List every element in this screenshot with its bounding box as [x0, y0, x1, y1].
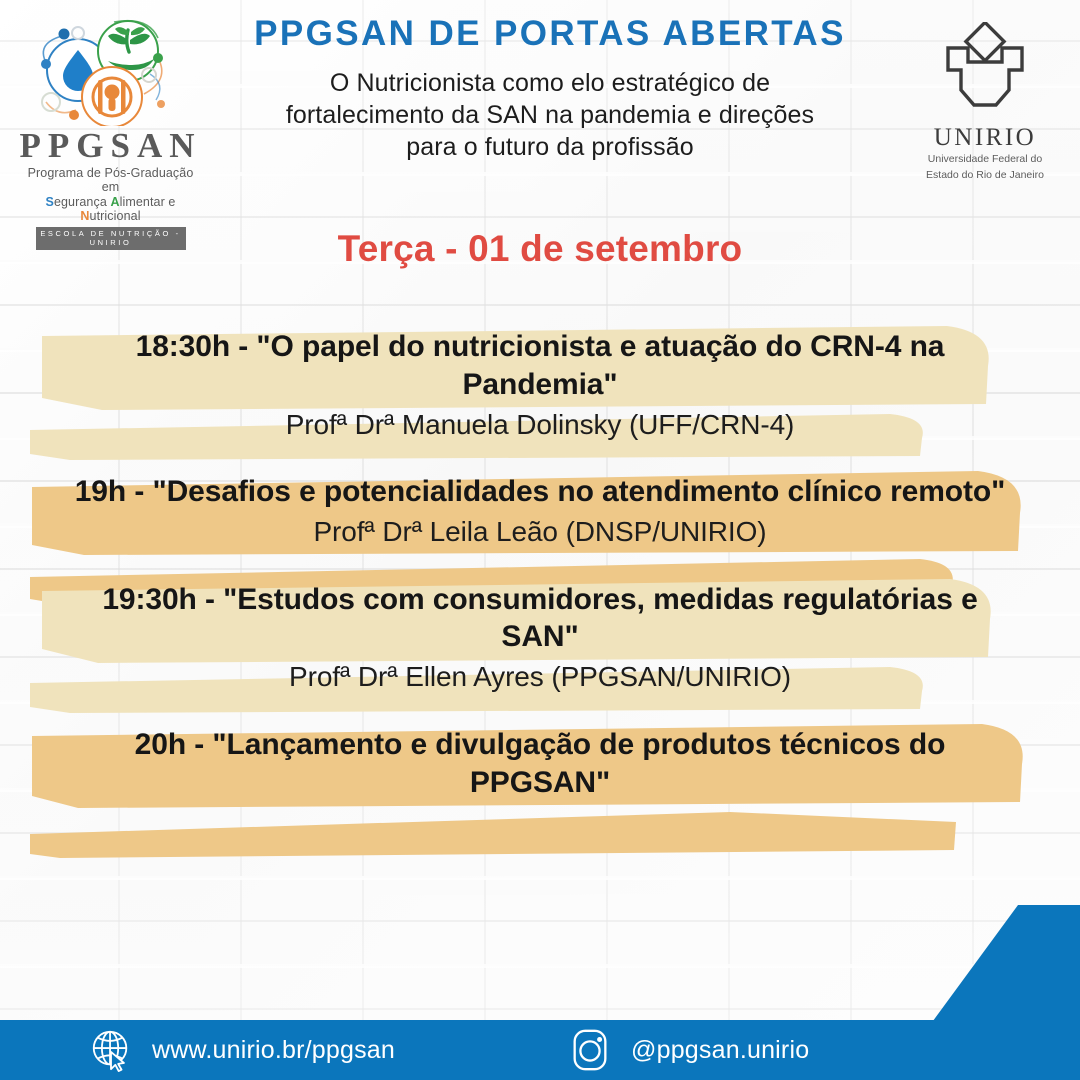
main-title: PPGSAN DE PORTAS ABERTAS [200, 16, 900, 53]
event-date: Terça - 01 de setembro [0, 228, 1080, 270]
instagram-icon [567, 1027, 613, 1073]
session-text: 20h - "Lançamento e divulgação de produt… [0, 716, 1080, 802]
subtitle-line-3: para o futuro da profissão [406, 133, 694, 161]
subtitle: O Nutricionista como elo estratégico de … [200, 67, 900, 163]
ppgsan-wordmark: PPGSAN [18, 128, 203, 163]
ppgsan-logo-marks [18, 14, 203, 126]
session-text: 19h - "Desafios e potencialidades no ate… [0, 463, 1080, 548]
ppgsan-logo-graphic [18, 14, 203, 126]
session-text: 18:30h - "O papel do nutricionista e atu… [0, 318, 1080, 441]
globe-cursor-icon [88, 1027, 134, 1073]
blue-corner-wedge [930, 905, 1080, 1025]
session-list: 18:30h - "O papel do nutricionista e atu… [0, 318, 1080, 823]
title-block: PPGSAN DE PORTAS ABERTAS O Nutricionista… [200, 16, 900, 163]
unirio-logo: UNIRIO Universidade Federal do Estado do… [910, 22, 1060, 182]
subtitle-line-2: fortalecimento da SAN na pandemia e dire… [286, 101, 814, 129]
instagram-label: @ppgsan.unirio [631, 1036, 809, 1065]
poster-canvas: PPGSAN Programa de Pós-Graduação em Segu… [0, 0, 1080, 1080]
website-link[interactable]: www.unirio.br/ppgsan [88, 1027, 395, 1073]
highlight-band-speaker [30, 812, 960, 858]
session-speaker: Profª Drª Leila Leão (DNSP/UNIRIO) [70, 515, 1010, 549]
poster-header: PPGSAN Programa de Pós-Graduação em Segu… [0, 0, 1080, 200]
session-item: 20h - "Lançamento e divulgação de produt… [0, 716, 1080, 802]
ppgsan-logo-line2: Segurança Alimentar e Nutricional [18, 195, 203, 223]
unirio-sub-line1: Universidade Federal do [910, 153, 1060, 166]
session-item: 19:30h - "Estudos com consumidores, medi… [0, 571, 1080, 694]
session-title: 19:30h - "Estudos com consumidores, medi… [70, 571, 1010, 657]
unirio-sub-line2: Estado do Rio de Janeiro [910, 169, 1060, 182]
session-speaker: Profª Drª Manuela Dolinsky (UFF/CRN-4) [70, 408, 1010, 442]
instagram-link[interactable]: @ppgsan.unirio [567, 1027, 809, 1073]
ppgsan-logo-line1: Programa de Pós-Graduação em [18, 166, 203, 194]
session-title: 20h - "Lançamento e divulgação de produt… [70, 716, 1010, 802]
session-title: 19h - "Desafios e potencialidades no ate… [70, 463, 1010, 511]
session-speaker: Profª Drª Ellen Ayres (PPGSAN/UNIRIO) [70, 660, 1010, 694]
unirio-emblem-icon [930, 22, 1040, 118]
session-item: 18:30h - "O papel do nutricionista e atu… [0, 318, 1080, 441]
unirio-wordmark: UNIRIO [910, 125, 1060, 150]
ppgsan-logo: PPGSAN Programa de Pós-Graduação em Segu… [18, 14, 203, 192]
session-text: 19:30h - "Estudos com consumidores, medi… [0, 571, 1080, 694]
session-title: 18:30h - "O papel do nutricionista e atu… [70, 318, 1010, 404]
session-item: 19h - "Desafios e potencialidades no ate… [0, 463, 1080, 548]
footer-bar: www.unirio.br/ppgsan @ppgsan.unirio [0, 1020, 1080, 1080]
subtitle-line-1: O Nutricionista como elo estratégico de [330, 69, 770, 97]
website-label: www.unirio.br/ppgsan [152, 1036, 395, 1065]
